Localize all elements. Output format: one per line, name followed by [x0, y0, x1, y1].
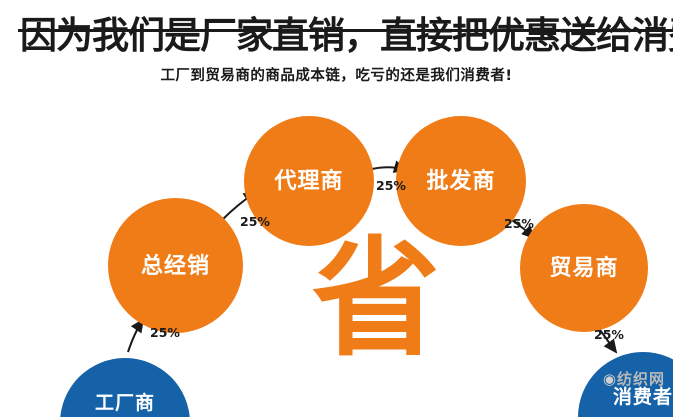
node-general-distributor-label: 总经销: [141, 248, 210, 280]
center-savings-character: 省: [312, 230, 432, 370]
connector-label-wholesaler-to-trader: 25%: [504, 216, 534, 231]
node-factory[interactable]: 工厂商: [60, 358, 190, 417]
node-agent-label: 代理商: [274, 163, 343, 195]
node-wholesaler-label: 批发商: [426, 163, 495, 195]
watermark-icon: ◉: [603, 370, 617, 388]
connector-label-trader-to-consumer: 25%: [594, 327, 624, 342]
watermark: ◉纺织网: [603, 368, 665, 389]
watermark-text: 纺织网: [617, 370, 665, 388]
slide-canvas: 因为我们是厂家直销，直接把优惠送给消费者 工厂到贸易商的商品成本链，吃亏的还是我…: [0, 0, 673, 417]
node-factory-label: 工厂商: [95, 388, 155, 415]
connector-label-agent-to-wholesaler: 25%: [376, 178, 406, 193]
page-title: 因为我们是厂家直销，直接把优惠送给消费者: [20, 14, 673, 58]
connector-label-distributor-to-agent: 25%: [240, 214, 270, 229]
node-general-distributor[interactable]: 总经销: [108, 198, 243, 333]
connector-label-factory-to-distributor: 25%: [150, 325, 180, 340]
subtitle-text: 工厂到贸易商的商品成本链，吃亏的还是我们消费者!: [0, 64, 673, 85]
node-trader-label: 贸易商: [549, 250, 618, 282]
headline-banner: 因为我们是厂家直销，直接把优惠送给消费者: [0, 14, 673, 58]
node-trader[interactable]: 贸易商: [520, 204, 648, 332]
